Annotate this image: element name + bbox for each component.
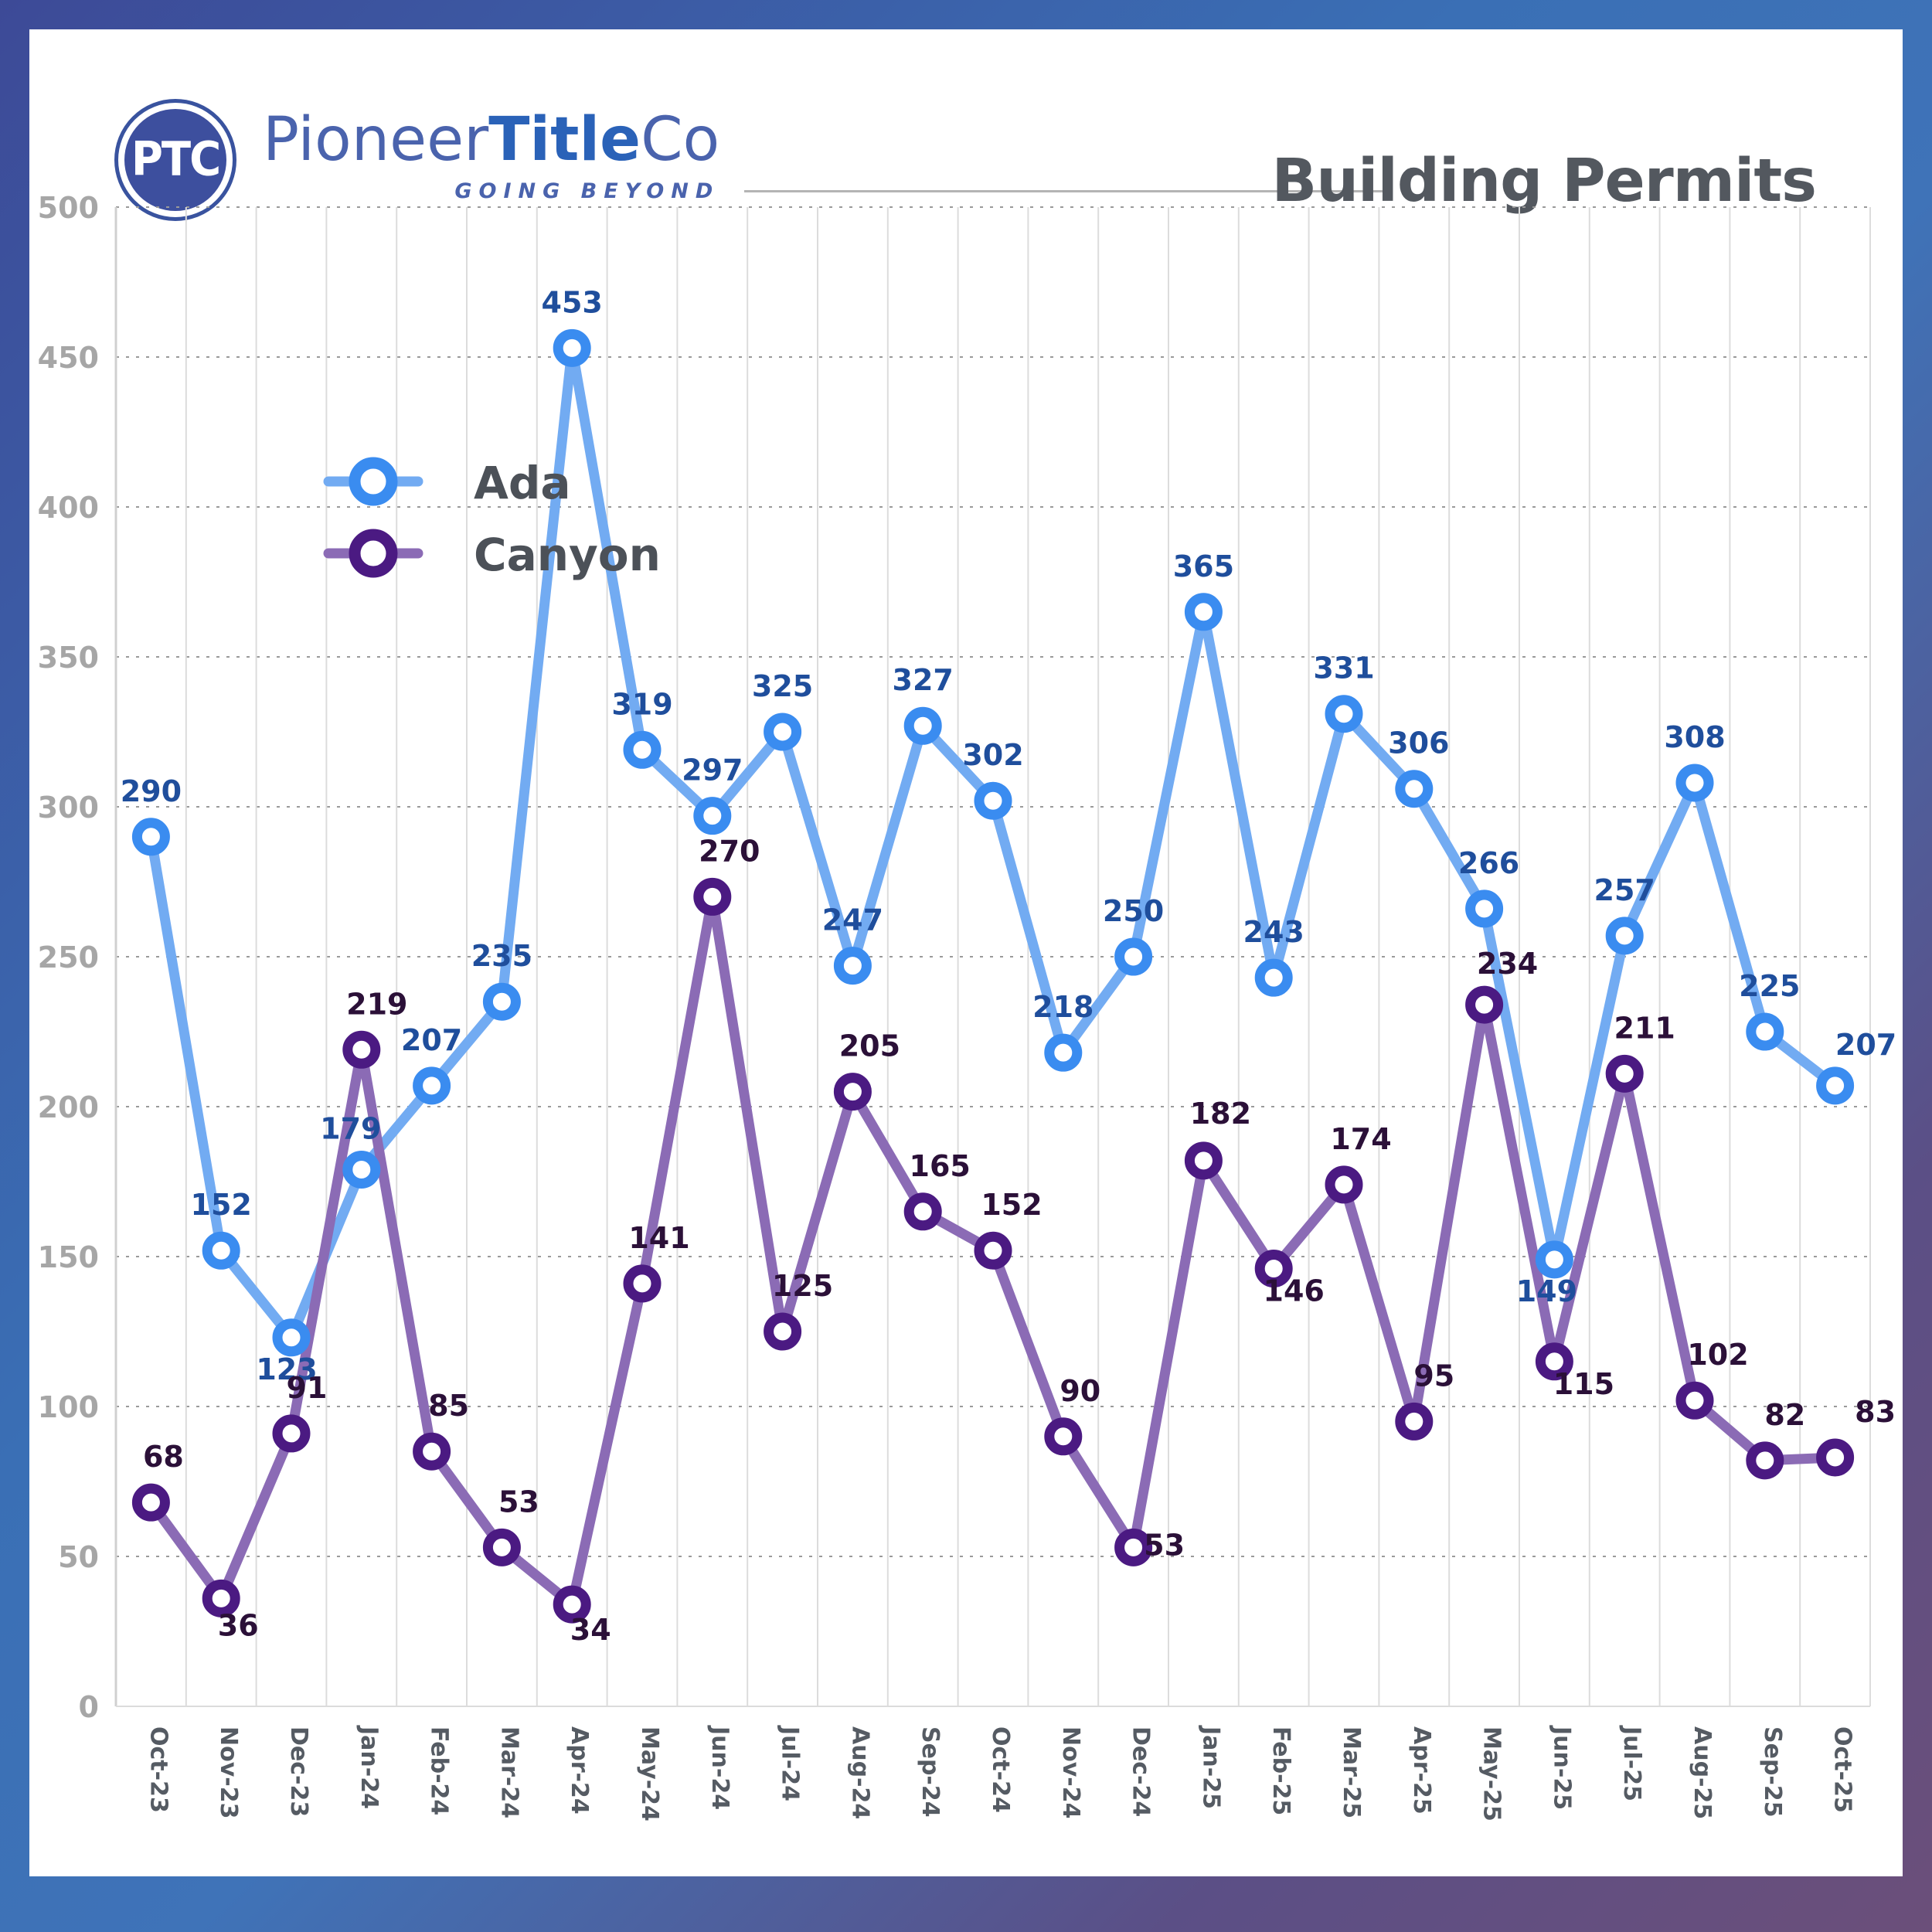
data-point-ada[interactable] — [909, 712, 937, 740]
data-label-ada: 290 — [121, 774, 182, 808]
data-label-ada: 152 — [191, 1188, 252, 1222]
y-axis-tick: 350 — [38, 641, 99, 675]
data-label-ada: 365 — [1173, 549, 1234, 583]
x-axis-tick: Apr-25 — [1408, 1726, 1435, 1815]
data-label-canyon: 36 — [218, 1608, 259, 1642]
data-point-ada[interactable] — [838, 952, 866, 980]
y-axis-tick: 250 — [38, 940, 99, 975]
data-point-canyon[interactable] — [1471, 991, 1498, 1019]
data-label-canyon: 85 — [428, 1389, 469, 1423]
data-label-ada: 331 — [1313, 651, 1374, 685]
data-label-ada: 250 — [1103, 894, 1164, 928]
data-point-ada[interactable] — [1681, 769, 1709, 797]
data-label-ada: 225 — [1739, 969, 1800, 1003]
legend-label-canyon: Canyon — [474, 529, 661, 581]
data-label-ada: 266 — [1458, 846, 1519, 880]
data-point-canyon[interactable] — [1330, 1171, 1358, 1199]
data-point-ada[interactable] — [769, 718, 797, 746]
data-label-ada: 308 — [1664, 720, 1725, 754]
data-label-ada: 319 — [611, 687, 672, 721]
data-point-ada[interactable] — [418, 1072, 446, 1100]
data-point-canyon[interactable] — [1751, 1447, 1779, 1475]
data-label-canyon: 152 — [981, 1188, 1042, 1222]
data-point-canyon[interactable] — [137, 1488, 165, 1516]
x-axis-tick: Oct-24 — [987, 1726, 1014, 1813]
data-point-ada[interactable] — [348, 1155, 376, 1183]
data-point-ada[interactable] — [1330, 700, 1358, 728]
y-axis-tick: 450 — [38, 341, 99, 375]
data-label-ada: 327 — [893, 663, 954, 697]
data-label-canyon: 146 — [1264, 1274, 1325, 1308]
data-point-canyon[interactable] — [769, 1318, 797, 1345]
data-point-canyon[interactable] — [1049, 1423, 1077, 1451]
data-label-ada: 325 — [752, 669, 813, 703]
data-point-canyon[interactable] — [909, 1198, 937, 1226]
data-label-canyon: 141 — [628, 1221, 689, 1255]
data-point-canyon[interactable] — [1681, 1386, 1709, 1414]
data-point-ada[interactable] — [1120, 943, 1148, 971]
data-label-ada: 306 — [1388, 726, 1449, 760]
page-background: PTC PioneerTitleCo GOING BEYOND Building… — [0, 0, 1932, 1932]
legend-label-ada: Ada — [474, 457, 571, 509]
x-axis-tick: Jul-24 — [777, 1725, 804, 1801]
data-point-ada[interactable] — [558, 334, 586, 362]
y-axis-tick: 0 — [79, 1690, 99, 1724]
y-axis-tick: 50 — [58, 1540, 99, 1574]
data-point-ada[interactable] — [1611, 922, 1638, 950]
data-point-canyon[interactable] — [1189, 1147, 1217, 1175]
data-point-ada[interactable] — [979, 787, 1007, 815]
data-label-canyon: 95 — [1413, 1359, 1454, 1393]
data-label-ada: 297 — [682, 753, 743, 787]
data-point-canyon[interactable] — [277, 1420, 305, 1447]
data-label-canyon: 68 — [143, 1440, 184, 1474]
x-axis-tick: Dec-23 — [285, 1726, 312, 1817]
x-axis-tick: May-25 — [1478, 1726, 1505, 1821]
y-axis-tick: 300 — [38, 791, 99, 825]
x-axis-tick: Jun-24 — [706, 1725, 733, 1810]
data-label-ada: 179 — [320, 1111, 381, 1145]
data-point-ada[interactable] — [1189, 598, 1217, 626]
data-label-canyon: 174 — [1330, 1122, 1391, 1156]
legend-item-ada[interactable]: Ada — [328, 457, 571, 509]
y-axis-tick: 150 — [38, 1240, 99, 1274]
data-label-canyon: 53 — [498, 1485, 539, 1519]
data-label-canyon: 211 — [1614, 1011, 1675, 1045]
data-point-canyon[interactable] — [1821, 1444, 1849, 1471]
data-label-canyon: 165 — [910, 1149, 971, 1183]
data-point-canyon[interactable] — [488, 1533, 515, 1561]
x-axis-tick: Sep-25 — [1759, 1726, 1786, 1818]
data-label-canyon: 53 — [1144, 1528, 1185, 1562]
data-point-ada[interactable] — [1400, 775, 1428, 803]
x-axis-tick: Oct-23 — [145, 1726, 172, 1813]
permits-line-chart: 050100150200250300350400450500Oct-23Nov-… — [29, 29, 1903, 1876]
x-axis-tick: Nov-24 — [1057, 1726, 1084, 1818]
data-point-ada[interactable] — [137, 823, 165, 851]
data-point-ada[interactable] — [1821, 1072, 1849, 1100]
data-point-canyon[interactable] — [699, 883, 726, 910]
data-label-ada: 218 — [1032, 990, 1094, 1024]
data-label-ada: 257 — [1594, 873, 1655, 907]
x-axis-tick: Mar-25 — [1338, 1726, 1365, 1818]
y-axis-tick: 400 — [38, 491, 99, 525]
data-point-ada[interactable] — [488, 988, 515, 1015]
x-axis-tick: Feb-25 — [1267, 1726, 1294, 1815]
data-label-ada: 235 — [471, 939, 532, 973]
data-label-ada: 149 — [1516, 1274, 1577, 1308]
data-point-canyon[interactable] — [628, 1270, 656, 1298]
data-label-canyon: 82 — [1764, 1398, 1805, 1432]
data-label-canyon: 34 — [570, 1613, 611, 1647]
data-label-canyon: 234 — [1477, 947, 1538, 981]
data-point-canyon[interactable] — [1400, 1407, 1428, 1435]
x-axis-tick: Feb-24 — [426, 1726, 453, 1815]
data-point-ada[interactable] — [1751, 1018, 1779, 1046]
x-axis-tick: Aug-24 — [846, 1726, 873, 1819]
x-axis-tick: Jun-25 — [1548, 1725, 1575, 1810]
data-point-canyon[interactable] — [838, 1078, 866, 1106]
x-axis-tick: Oct-25 — [1829, 1726, 1856, 1813]
y-axis-tick: 200 — [38, 1090, 99, 1124]
chart-card: PTC PioneerTitleCo GOING BEYOND Building… — [29, 29, 1903, 1876]
x-axis-tick: Jan-25 — [1197, 1725, 1224, 1809]
data-point-canyon[interactable] — [979, 1236, 1007, 1264]
data-label-canyon: 125 — [772, 1269, 833, 1303]
y-axis-tick: 500 — [38, 191, 99, 225]
data-label-canyon: 102 — [1687, 1338, 1748, 1372]
x-axis-tick: Nov-23 — [215, 1726, 242, 1818]
data-point-canyon[interactable] — [1611, 1060, 1638, 1087]
data-label-ada: 243 — [1243, 915, 1304, 949]
x-axis-tick: Jul-25 — [1618, 1725, 1645, 1801]
data-point-ada[interactable] — [699, 802, 726, 830]
data-point-canyon[interactable] — [348, 1036, 376, 1063]
legend-item-canyon[interactable]: Canyon — [328, 529, 661, 581]
data-label-canyon: 90 — [1060, 1374, 1100, 1408]
data-point-ada[interactable] — [628, 736, 656, 764]
chart-svg: 050100150200250300350400450500Oct-23Nov-… — [29, 29, 1903, 1876]
x-axis-tick: May-24 — [636, 1726, 663, 1821]
x-axis-tick: Mar-24 — [495, 1726, 522, 1818]
data-point-canyon[interactable] — [418, 1437, 446, 1465]
data-label-canyon: 219 — [346, 987, 407, 1021]
data-label-ada: 247 — [822, 903, 883, 937]
data-label-canyon: 182 — [1190, 1097, 1251, 1131]
data-label-canyon: 205 — [839, 1029, 900, 1063]
data-point-ada[interactable] — [277, 1324, 305, 1352]
data-point-ada[interactable] — [1260, 964, 1287, 992]
data-point-ada[interactable] — [1049, 1039, 1077, 1066]
data-label-ada: 453 — [542, 285, 603, 319]
data-point-ada[interactable] — [207, 1236, 235, 1264]
y-axis-tick: 100 — [38, 1390, 99, 1424]
x-axis-tick: Sep-24 — [917, 1726, 944, 1818]
x-axis-tick: Jan-24 — [355, 1725, 383, 1809]
x-axis-tick: Dec-24 — [1128, 1726, 1155, 1817]
data-point-ada[interactable] — [1471, 895, 1498, 923]
x-axis-tick: Apr-24 — [566, 1726, 593, 1815]
data-label-canyon: 270 — [699, 834, 760, 868]
data-label-ada: 207 — [1835, 1028, 1896, 1062]
data-label-canyon: 115 — [1553, 1367, 1614, 1401]
data-label-ada: 207 — [401, 1023, 462, 1057]
data-point-ada[interactable] — [1540, 1246, 1568, 1274]
data-label-canyon: 91 — [287, 1371, 328, 1405]
x-axis-tick: Aug-25 — [1689, 1726, 1716, 1819]
data-label-canyon: 83 — [1855, 1395, 1896, 1429]
data-label-ada: 302 — [962, 738, 1023, 772]
